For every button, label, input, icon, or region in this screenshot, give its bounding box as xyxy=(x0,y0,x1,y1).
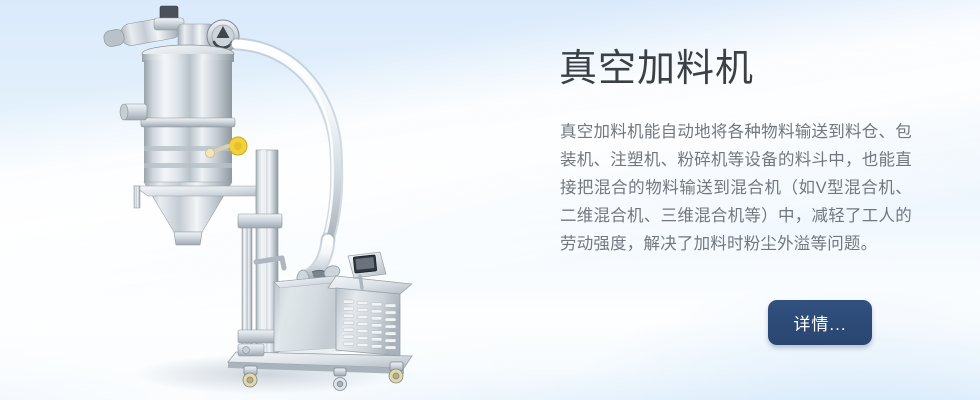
details-button[interactable]: 详情... xyxy=(768,300,872,345)
product-hero-banner: 真空加料机 真空加料机能自动地将各种物料输送到料仓、包装机、注塑机、粉碎机等设备… xyxy=(0,0,980,400)
product-image xyxy=(60,0,480,400)
product-description: 真空加料机能自动地将各种物料输送到料仓、包装机、注塑机、粉碎机等设备的料斗中，也… xyxy=(560,118,912,258)
banner-copy: 真空加料机 真空加料机能自动地将各种物料输送到料仓、包装机、注塑机、粉碎机等设备… xyxy=(559,0,959,400)
page-title: 真空加料机 xyxy=(559,46,754,92)
